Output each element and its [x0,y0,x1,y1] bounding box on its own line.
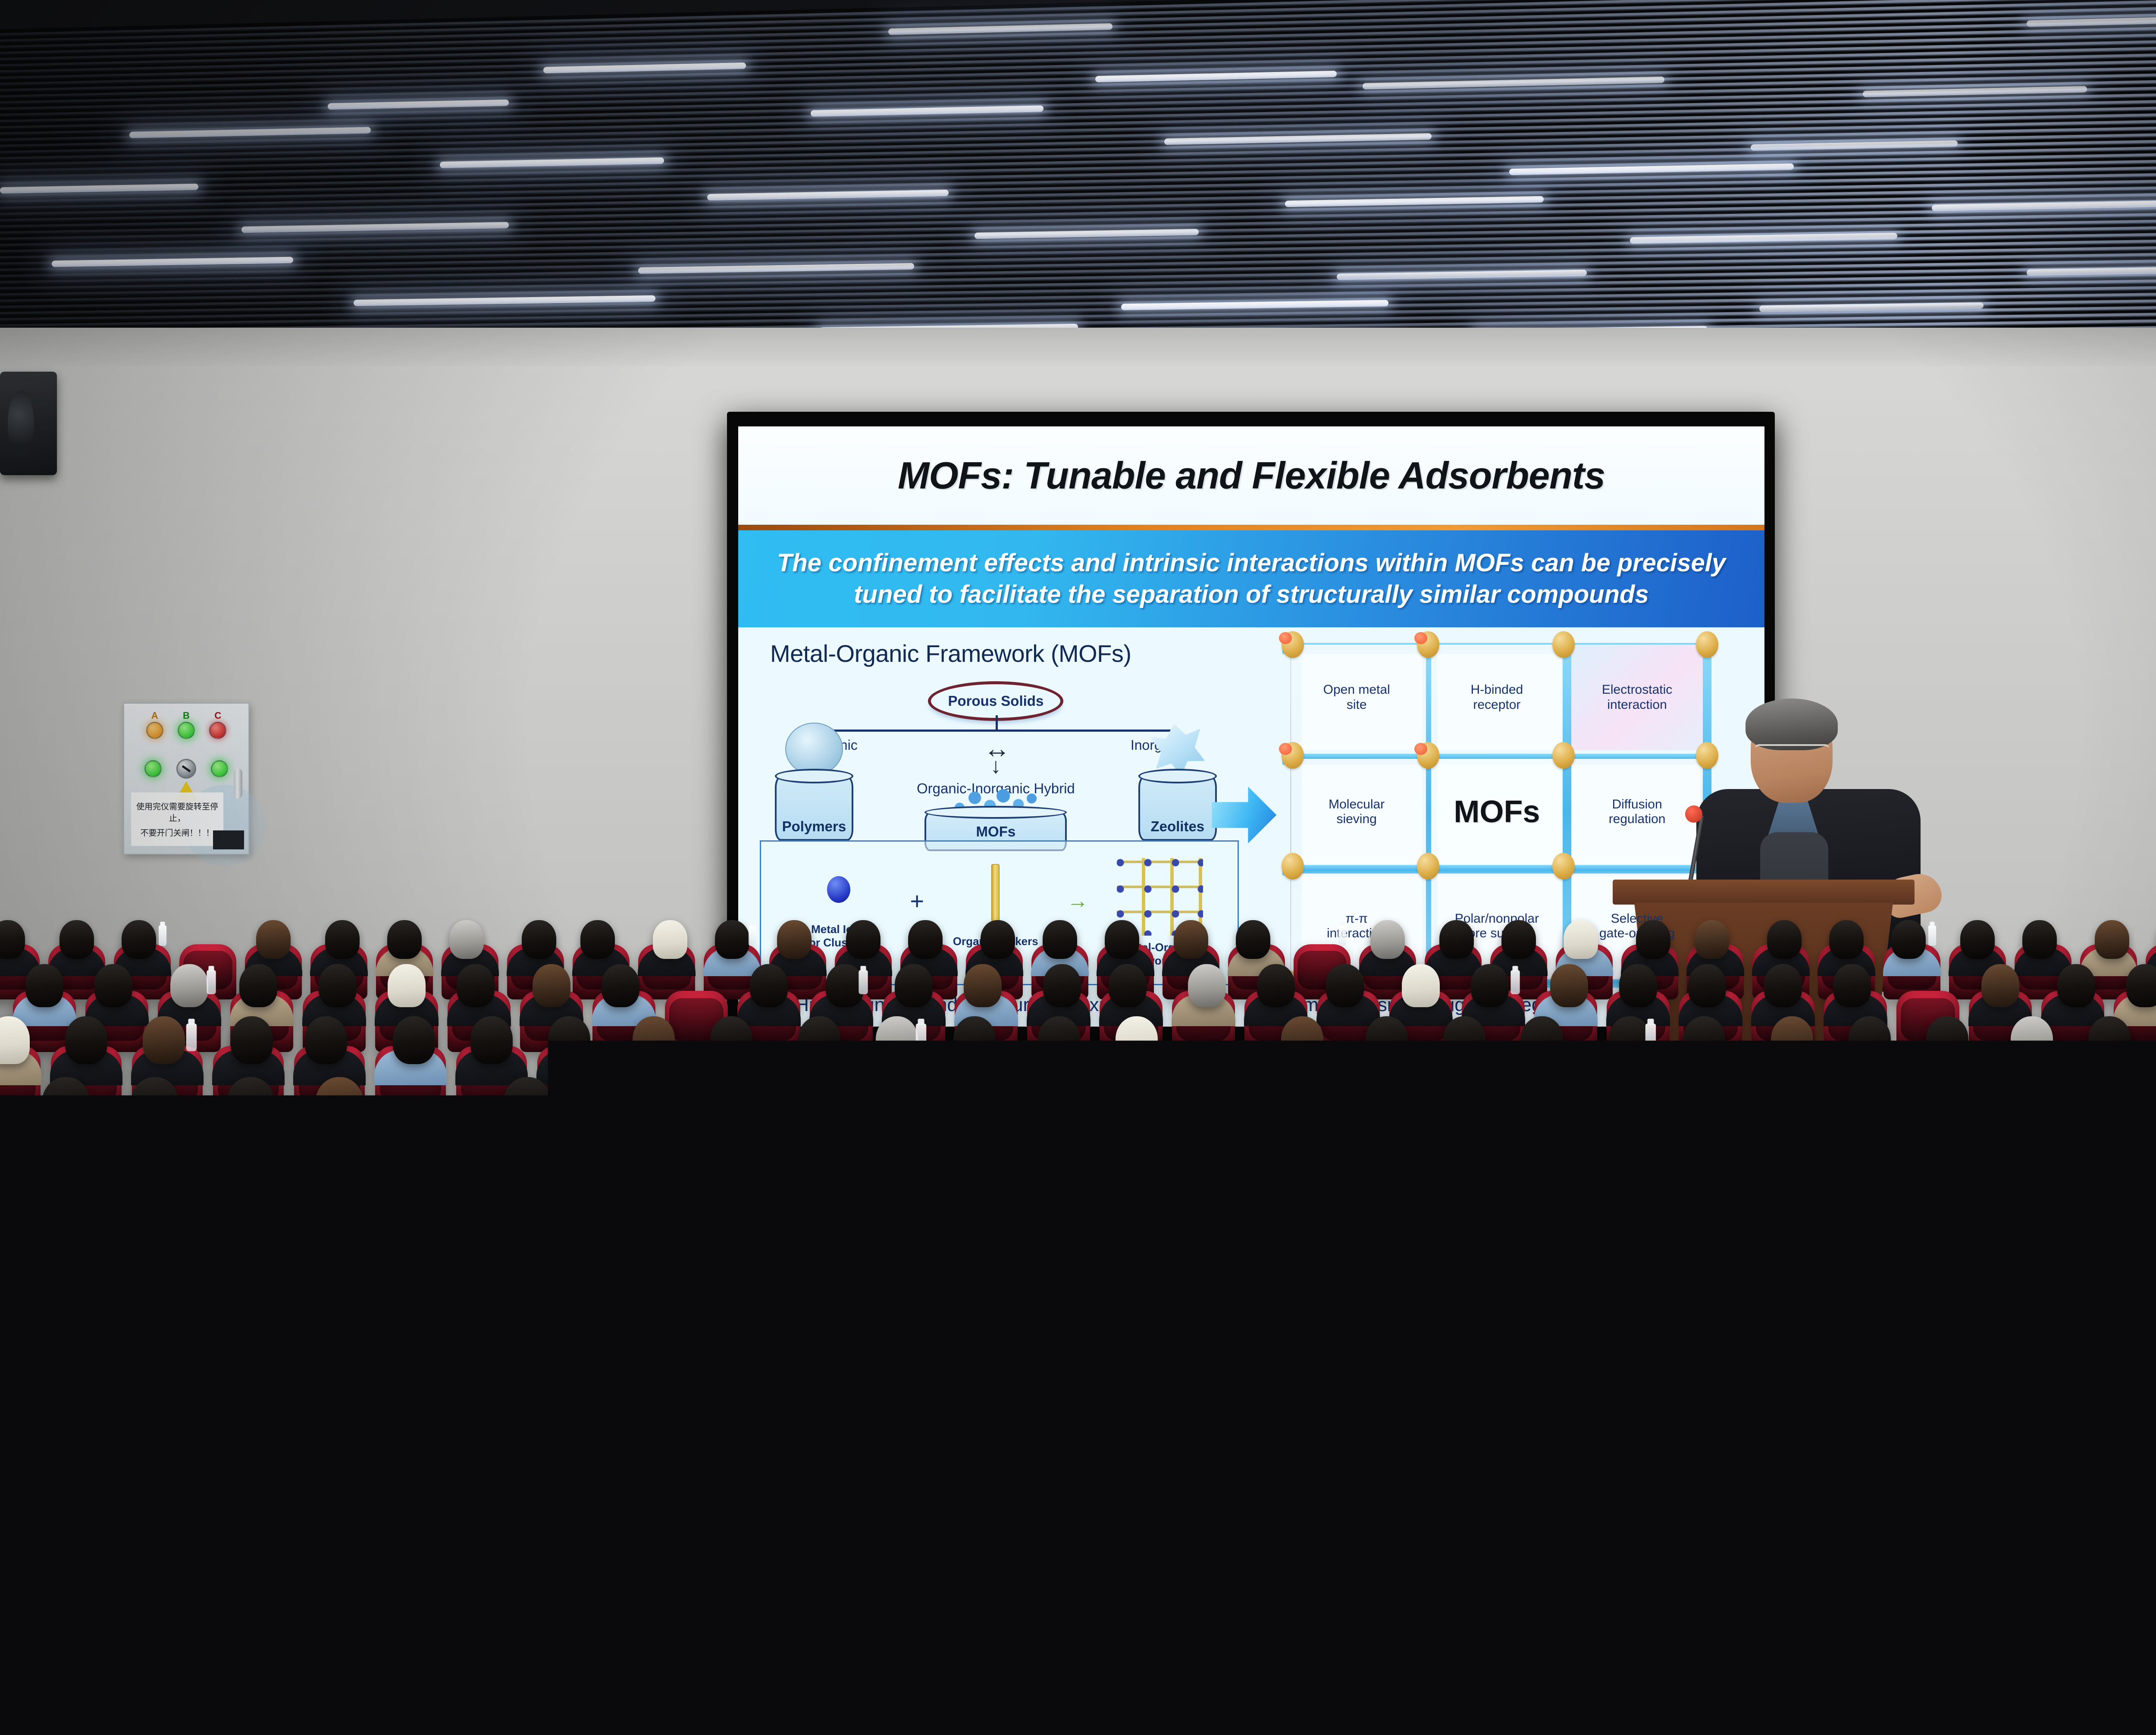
wall-speaker-left [0,372,57,475]
audience-seating [0,940,2156,1735]
cell-label: Molecular sieving [1329,797,1385,827]
indicator-lamp-c: C [209,722,226,739]
tree-stem [996,715,998,730]
presenter-glasses [1755,744,1829,759]
lamp-label-c: C [214,710,221,721]
lamp-label-a: A [151,710,158,721]
zeolites-label: Zeolites [1138,776,1217,841]
zeolites-cylinder: Zeolites [1138,776,1217,841]
indicator-lamp-b: B [178,722,195,739]
strategy-cell-open-metal-site: Open metal site [1291,645,1423,750]
title-divider [738,525,1764,530]
indicator-lamp-a: A [146,722,163,739]
polymer-blob-icon [785,723,843,775]
ceiling-baffle-system [0,0,2156,341]
notice-line-1: 使用完仪需要旋转至停止， [134,800,221,824]
banner-line-1: The confinement effects and intrinsic in… [777,550,1726,577]
strategy-cell-diffusion-regulation: Diffusion regulation [1571,759,1703,864]
yields-arrow-icon: → [1067,888,1088,913]
porous-solids-diagram: Porous Solids Organic Inorganic ↔↓ Organ… [750,674,1241,860]
cell-label: H-binded receptor [1470,683,1523,712]
panel-nameplate [213,830,244,849]
cell-label: MOFs [1454,794,1540,830]
run-indicator-lamp [144,760,162,777]
panel-door-handle[interactable] [234,768,242,799]
strategy-cell-electrostatic-interaction: Electrostatic interaction [1571,645,1703,750]
power-indicator-lamp [211,760,228,777]
electrical-control-panel[interactable]: A B C 使用完仪需要旋转至停止， 不要开门关闸！！！ [123,703,249,855]
cell-label: Diffusion regulation [1609,797,1666,827]
ceiling-soffit [0,328,2156,366]
cell-label: Open metal site [1323,683,1390,712]
control-row [124,759,248,779]
presenter-hair [1745,698,1838,750]
slide-title: MOFs: Tunable and Flexible Adsorbents [738,426,1764,525]
cylinder-top [1138,769,1217,783]
lamp-label-b: B [183,710,190,721]
strategy-cell-mofs-center: MOFs [1431,759,1563,864]
mode-selector-knob[interactable] [176,759,196,779]
strategy-cell-h-binded-receptor: H-binded receptor [1431,645,1563,750]
hybrid-arrow-icon: ↔↓ [984,738,1008,774]
notice-line-2: 不要开门关闸！！！ [140,827,214,838]
banner-line-2: tuned to facilitate the separation of st… [854,581,1648,608]
tree-branch-bar [819,730,1172,732]
lecture-hall-photo: A B C 使用完仪需要旋转至停止， 不要开门关闸！！！ MOFs: Tunab… [0,0,2156,1735]
left-panel-heading: Metal-Organic Framework (MOFs) [770,639,1241,667]
panel-notice: 使用完仪需要旋转至停止， 不要开门关闸！！！ [131,792,223,846]
cell-label: Electrostatic interaction [1602,683,1672,712]
microphone-windscreen [1685,805,1702,823]
indicator-lamp-row: A B C [124,722,248,739]
strategy-cell-molecular-sieving: Molecular sieving [1291,759,1423,864]
cylinder-top [775,769,853,783]
polymers-label: Polymers [775,776,853,841]
lectern-top [1613,880,1915,905]
metal-ion-icon [827,876,850,903]
dish-top [924,806,1067,819]
organic-strut-icon [991,864,1000,922]
plus-operator: + [910,887,924,915]
polymers-cylinder: Polymers [775,776,853,841]
slide-banner: The confinement effects and intrinsic in… [738,530,1764,627]
